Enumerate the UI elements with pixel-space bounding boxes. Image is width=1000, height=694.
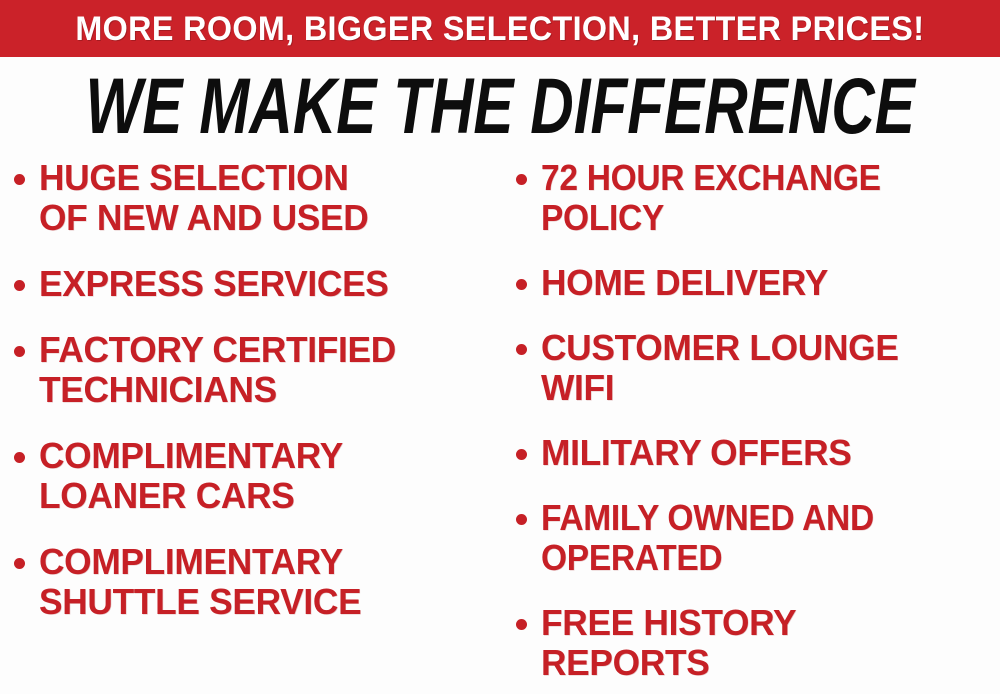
bullet-dot-icon: [516, 619, 527, 630]
list-item-label: EXPRESS SERVICES: [39, 264, 389, 304]
list-item-line-2: OF NEW AND USED: [39, 198, 368, 238]
list-item-line-1: COMPLIMENTARY: [39, 542, 361, 582]
bullet-dot-icon: [516, 514, 527, 525]
list-item-label: HOME DELIVERY: [541, 263, 828, 303]
list-item-label: 72 HOUR EXCHANGE POLICY: [541, 158, 881, 238]
list-item-line-1: FREE HISTORY: [541, 603, 796, 643]
page-title: WE MAKE THE DIFFERENCE: [85, 67, 914, 145]
list-item-label: FACTORY CERTIFIED TECHNICIANS: [39, 330, 396, 410]
headline-container: WE MAKE THE DIFFERENCE: [0, 60, 1000, 152]
list-item-line-1: FAMILY OWNED AND: [541, 498, 874, 538]
list-item: FREE HISTORY REPORTS: [516, 603, 996, 683]
bullet-dot-icon: [516, 344, 527, 355]
list-item-label: HUGE SELECTION OF NEW AND USED: [39, 158, 368, 238]
list-item-line-2: POLICY: [541, 198, 881, 238]
list-item: HOME DELIVERY: [516, 263, 996, 303]
list-item-label: COMPLIMENTARY LOANER CARS: [39, 436, 343, 516]
list-item-label: COMPLIMENTARY SHUTTLE SERVICE: [39, 542, 361, 622]
list-item-label: CUSTOMER LOUNGE WIFI: [541, 328, 899, 408]
list-item-label: FREE HISTORY REPORTS: [541, 603, 796, 683]
benefits-column-right: 72 HOUR EXCHANGE POLICY HOME DELIVERY CU…: [516, 158, 996, 694]
bullet-dot-icon: [14, 280, 25, 291]
list-item-line-1: CUSTOMER LOUNGE: [541, 328, 899, 368]
list-item-label: MILITARY OFFERS: [541, 433, 852, 473]
list-item: 72 HOUR EXCHANGE POLICY: [516, 158, 996, 238]
list-item-line-2: SHUTTLE SERVICE: [39, 582, 361, 622]
list-item-line-1: EXPRESS SERVICES: [39, 264, 389, 304]
list-item-line-2: LOANER CARS: [39, 476, 343, 516]
list-item: CUSTOMER LOUNGE WIFI: [516, 328, 996, 408]
list-item: FACTORY CERTIFIED TECHNICIANS: [14, 330, 494, 410]
list-item: FAMILY OWNED AND OPERATED: [516, 498, 996, 578]
list-item-line-1: COMPLIMENTARY: [39, 436, 343, 476]
list-item-line-2: OPERATED: [541, 538, 874, 578]
list-item-line-2: TECHNICIANS: [39, 370, 396, 410]
bullet-dot-icon: [516, 174, 527, 185]
bullet-dot-icon: [14, 558, 25, 569]
list-item: EXPRESS SERVICES: [14, 264, 494, 304]
bullet-dot-icon: [516, 279, 527, 290]
list-item-line-2: WIFI: [541, 368, 899, 408]
list-item: COMPLIMENTARY SHUTTLE SERVICE: [14, 542, 494, 622]
list-item-line-1: FACTORY CERTIFIED: [39, 330, 396, 370]
banner-headline-text: MORE ROOM, BIGGER SELECTION, BETTER PRIC…: [75, 12, 924, 46]
list-item: HUGE SELECTION OF NEW AND USED: [14, 158, 494, 238]
bullet-dot-icon: [14, 346, 25, 357]
bullet-dot-icon: [516, 449, 527, 460]
bullet-dot-icon: [14, 452, 25, 463]
benefits-columns: HUGE SELECTION OF NEW AND USED EXPRESS S…: [0, 158, 1000, 694]
list-item: MILITARY OFFERS: [516, 433, 996, 473]
top-banner: MORE ROOM, BIGGER SELECTION, BETTER PRIC…: [0, 0, 1000, 57]
list-item: COMPLIMENTARY LOANER CARS: [14, 436, 494, 516]
list-item-label: FAMILY OWNED AND OPERATED: [541, 498, 874, 578]
list-item-line-1: HUGE SELECTION: [39, 158, 368, 198]
list-item-line-2: REPORTS: [541, 643, 796, 683]
promotional-poster: MORE ROOM, BIGGER SELECTION, BETTER PRIC…: [0, 0, 1000, 694]
list-item-line-1: MILITARY OFFERS: [541, 433, 852, 473]
bullet-dot-icon: [14, 174, 25, 185]
list-item-line-1: 72 HOUR EXCHANGE: [541, 158, 881, 198]
list-item-line-1: HOME DELIVERY: [541, 263, 828, 303]
benefits-column-left: HUGE SELECTION OF NEW AND USED EXPRESS S…: [14, 158, 494, 648]
